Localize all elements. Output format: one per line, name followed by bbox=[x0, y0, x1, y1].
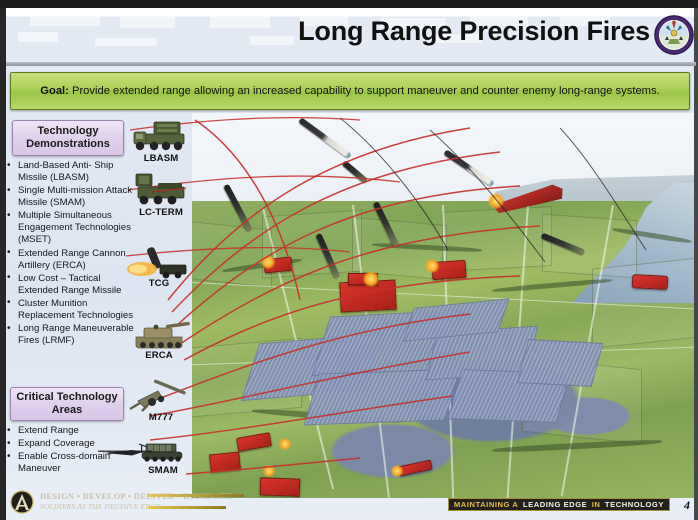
list-item: Cluster Munition Replacement Technologie… bbox=[4, 298, 134, 322]
page-title: Long Range Precision Fires bbox=[298, 16, 650, 47]
solar-panel-array bbox=[517, 339, 604, 387]
goal-banner: Goal: Provide extended range allowing an… bbox=[10, 72, 690, 110]
equipment-label: M777 bbox=[126, 412, 196, 423]
enemy-building bbox=[209, 451, 241, 472]
equipment-tcg: TCG bbox=[124, 243, 194, 289]
list-item: Land-Based Anti- Ship Missile (LBASM) bbox=[4, 160, 134, 184]
rdecom-emblem-icon bbox=[10, 490, 34, 514]
banner-part-4: TECHNOLOGY bbox=[605, 500, 664, 509]
equipment-label: SMAM bbox=[128, 465, 198, 476]
battlefield-scene bbox=[192, 113, 694, 498]
list-item: Multiple Simultaneous Engagement Technol… bbox=[4, 210, 134, 246]
list-item: Low Cost – Tactical Extended Range Missi… bbox=[4, 273, 134, 297]
goal-body: Provide extended range allowing an incre… bbox=[69, 85, 660, 97]
list-item: Long Range Maneuverable Fires (LRMF) bbox=[4, 323, 134, 347]
truck-launcher-icon bbox=[126, 172, 196, 208]
missile-launch-icon bbox=[124, 243, 194, 279]
us-army-seal-icon bbox=[654, 14, 694, 58]
slide-header: Long Range Precision Fires bbox=[6, 14, 694, 64]
footer-subtagline: SOLDIERS AS THE DECISIVE EDGE bbox=[40, 502, 161, 511]
list-item: Extended Range Cannon Artillery (ERCA) bbox=[4, 248, 134, 272]
impact-burst bbox=[260, 255, 276, 269]
footer-banner: MAINTAINING A LEADING EDGE IN TECHNOLOGY bbox=[448, 498, 670, 511]
header-divider bbox=[6, 62, 696, 66]
field-parcel bbox=[192, 220, 272, 287]
truck-launcher-icon bbox=[126, 118, 196, 154]
equipment-label: ERCA bbox=[124, 350, 194, 361]
slide-canvas: Long Range Precision Fires Goal: Provide bbox=[0, 0, 698, 520]
impact-burst bbox=[390, 465, 404, 477]
technology-demonstrations-list: Land-Based Anti- Ship Missile (LBASM) Si… bbox=[4, 160, 134, 348]
impact-burst bbox=[487, 193, 505, 209]
critical-technology-areas-heading: Critical Technology Areas bbox=[10, 387, 124, 421]
equipment-lc-term: LC-TERM bbox=[126, 172, 196, 218]
impact-burst bbox=[278, 438, 292, 450]
impact-burst bbox=[262, 465, 276, 477]
goal-label: Goal: bbox=[40, 85, 69, 97]
goal-text: Goal: Provide extended range allowing an… bbox=[40, 84, 659, 99]
equipment-erca: ERCA bbox=[124, 315, 194, 361]
equipment-label: LBASM bbox=[126, 153, 196, 164]
enemy-vehicle bbox=[632, 274, 669, 290]
right-border bbox=[694, 8, 698, 520]
page-number: 4 bbox=[684, 498, 690, 513]
impact-burst bbox=[362, 271, 380, 287]
equipment-label: LC-TERM bbox=[126, 207, 196, 218]
technology-demonstrations-heading: Technology Demonstrations bbox=[12, 120, 124, 156]
footer-left: DESIGN • DEVELOP • DELIVER • DOMINATE SO… bbox=[8, 488, 238, 516]
impact-burst bbox=[424, 259, 440, 273]
towed-howitzer-icon bbox=[126, 377, 196, 413]
banner-part-3: IN bbox=[592, 500, 601, 509]
list-item: Single Multi-mission Attack Missile (SMA… bbox=[4, 185, 134, 209]
banner-part-2: LEADING EDGE bbox=[523, 500, 587, 509]
banner-part-1: MAINTAINING A bbox=[454, 500, 519, 509]
equipment-lbasm: LBASM bbox=[126, 118, 196, 164]
footer-rules bbox=[148, 494, 248, 514]
enemy-building bbox=[260, 477, 301, 496]
top-border bbox=[0, 0, 698, 8]
equipment-m777: M777 bbox=[126, 377, 196, 423]
attack-helicopter-icon bbox=[98, 442, 152, 465]
list-item: Extend Range bbox=[4, 425, 134, 437]
self-propelled-howitzer-icon bbox=[124, 315, 194, 351]
